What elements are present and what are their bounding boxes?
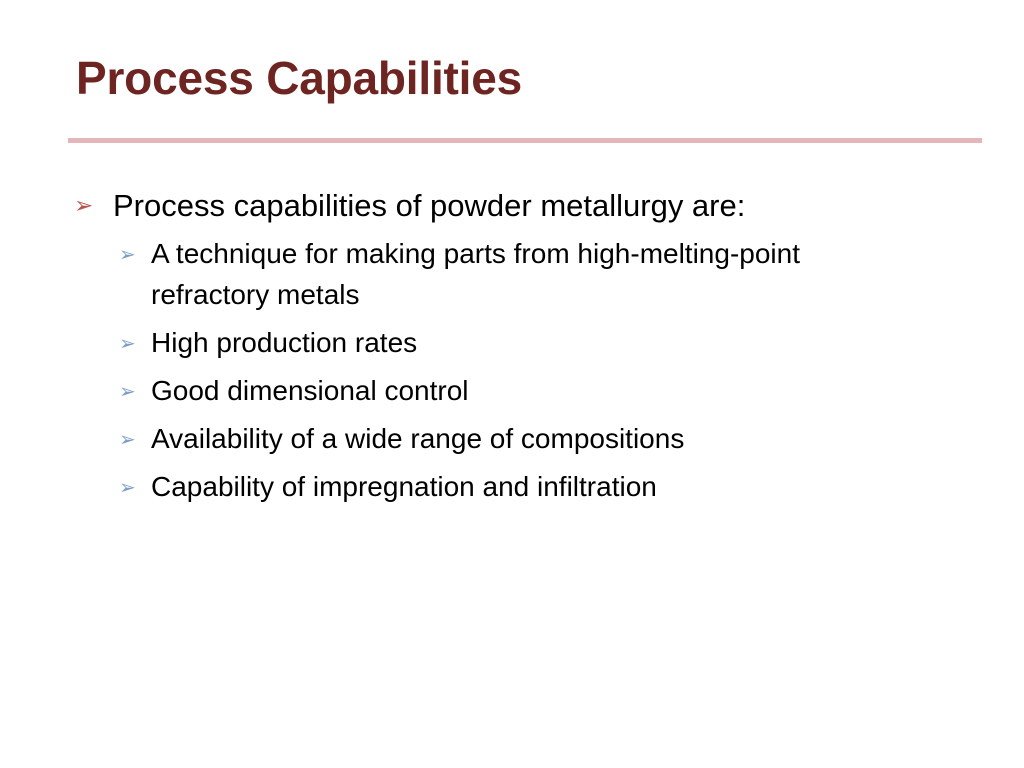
arrowhead-bullet-icon: ➢ <box>119 234 151 275</box>
bullet-text-sub-1: A technique for making parts from high-m… <box>151 233 906 315</box>
title-divider-rule <box>68 138 982 143</box>
arrowhead-bullet-icon: ➢ <box>119 467 151 508</box>
bullet-item-level1: ➢ Process capabilities of powder metallu… <box>0 184 1024 227</box>
sub-bullet-list: ➢ A technique for making parts from high… <box>0 233 1024 507</box>
arrowhead-bullet-icon: ➢ <box>119 371 151 412</box>
bullet-text-sub-4: Availability of a wide range of composit… <box>151 418 906 459</box>
bullet-item-level2: ➢ Availability of a wide range of compos… <box>0 418 1024 459</box>
slide-title: Process Capabilities <box>76 50 976 106</box>
bullet-item-level2: ➢ Capability of impregnation and infiltr… <box>0 466 1024 507</box>
arrowhead-bullet-icon: ➢ <box>119 419 151 460</box>
presentation-slide: Process Capabilities ➢ Process capabilit… <box>0 0 1024 768</box>
slide-body: ➢ Process capabilities of powder metallu… <box>0 184 1024 514</box>
arrowhead-bullet-icon: ➢ <box>119 323 151 364</box>
bullet-item-level2: ➢ A technique for making parts from high… <box>0 233 1024 315</box>
bullet-item-level2: ➢ Good dimensional control <box>0 370 1024 411</box>
bullet-item-level2: ➢ High production rates <box>0 322 1024 363</box>
arrowhead-bullet-icon: ➢ <box>74 185 113 228</box>
bullet-text-lead: Process capabilities of powder metallurg… <box>113 184 943 227</box>
bullet-text-sub-5: Capability of impregnation and infiltrat… <box>151 466 906 507</box>
bullet-text-sub-2: High production rates <box>151 322 906 363</box>
bullet-text-sub-3: Good dimensional control <box>151 370 906 411</box>
